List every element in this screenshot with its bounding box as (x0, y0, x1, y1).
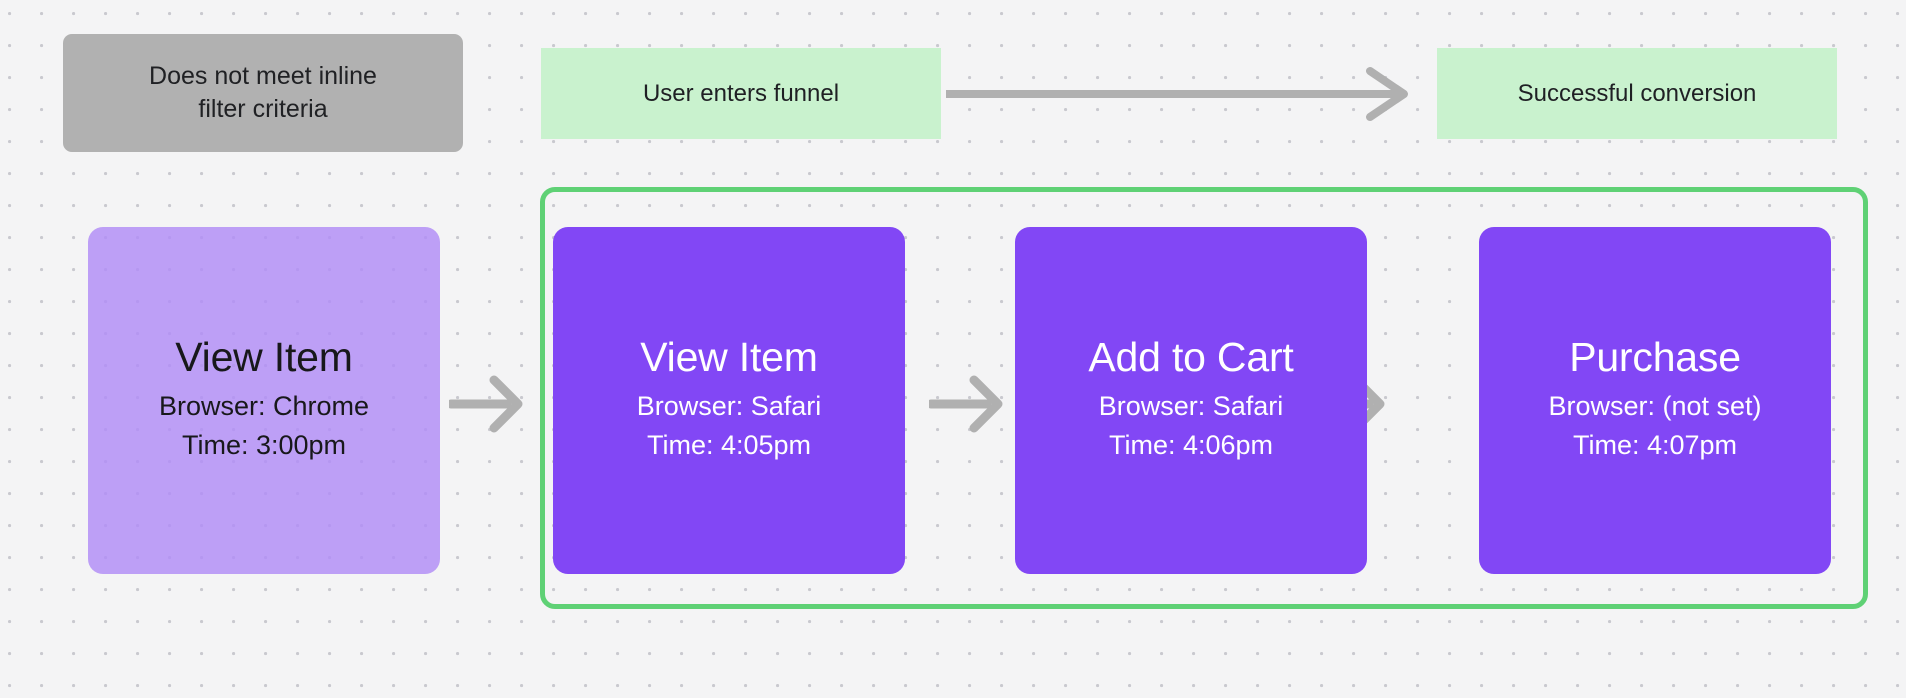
funnel-step-card-purchase[interactable]: Purchase Browser: (not set) Time: 4:07pm (1479, 227, 1831, 574)
legend-excluded-line2: filter criteria (198, 95, 327, 123)
legend-user-enters-funnel: User enters funnel (541, 48, 941, 139)
legend-successful-conversion: Successful conversion (1437, 48, 1837, 139)
funnel-step-card-view-item-chrome[interactable]: View Item Browser: Chrome Time: 3:00pm (88, 227, 440, 574)
legend-conversion-label: Successful conversion (1518, 78, 1757, 110)
step-title: View Item (640, 336, 817, 379)
diagram-canvas: Does not meet inline filter criteria Use… (0, 0, 1906, 698)
step-browser: Browser: Safari (637, 387, 822, 426)
legend-enters-label: User enters funnel (643, 78, 839, 110)
step-time: Time: 4:06pm (1109, 426, 1273, 465)
flow-arrow-icon-1 (449, 373, 527, 435)
legend-does-not-meet-filter: Does not meet inline filter criteria (63, 34, 463, 152)
step-title: View Item (175, 336, 352, 379)
funnel-step-card-view-item-safari[interactable]: View Item Browser: Safari Time: 4:05pm (553, 227, 905, 574)
step-time: Time: 4:05pm (647, 426, 811, 465)
funnel-step-card-add-to-cart[interactable]: Add to Cart Browser: Safari Time: 4:06pm (1015, 227, 1367, 574)
step-browser: Browser: Safari (1099, 387, 1284, 426)
step-title: Purchase (1569, 336, 1741, 379)
step-time: Time: 4:07pm (1573, 426, 1737, 465)
legend-flow-arrow-icon (946, 66, 1432, 122)
step-browser: Browser: (not set) (1548, 387, 1761, 426)
step-time: Time: 3:00pm (182, 426, 346, 465)
legend-excluded-label: Does not meet inline filter criteria (149, 60, 377, 126)
legend-excluded-line1: Does not meet inline (149, 62, 377, 90)
step-title: Add to Cart (1088, 336, 1293, 379)
step-browser: Browser: Chrome (159, 387, 369, 426)
